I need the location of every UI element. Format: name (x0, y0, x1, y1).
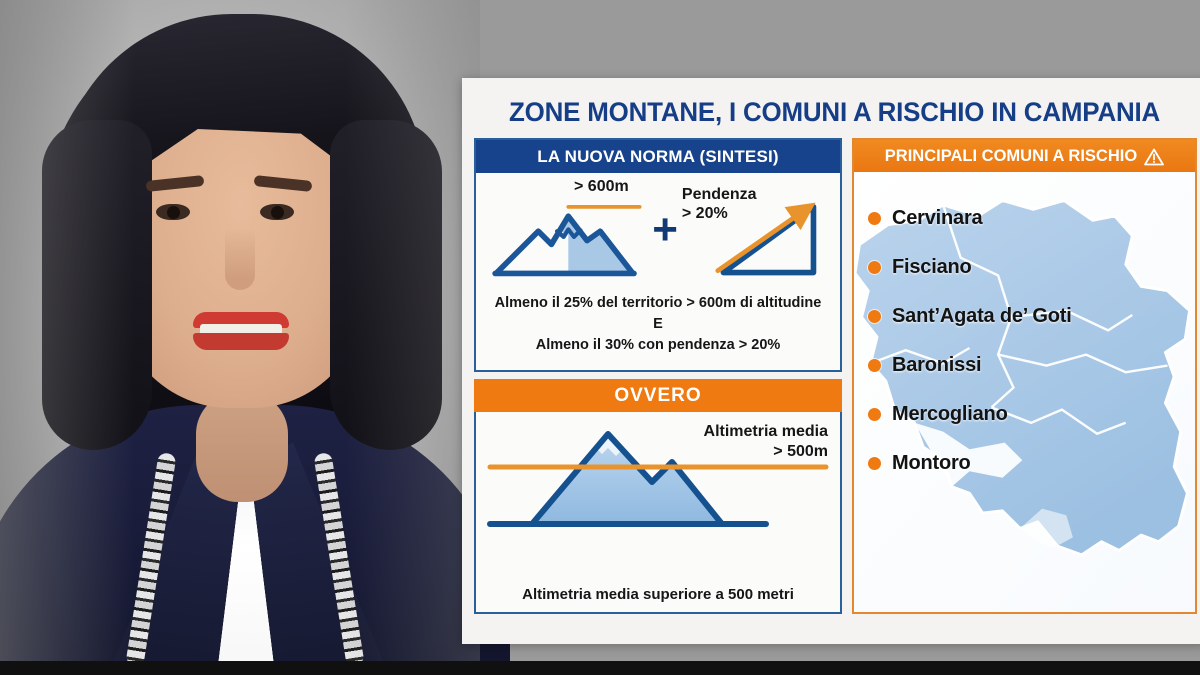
norma-panel-header: LA NUOVA NORMA (SINTESI) (476, 140, 840, 173)
comuni-panel-header-label: PRINCIPALI COMUNI A RISCHIO (885, 147, 1137, 166)
slope-label-line1: Pendenza (682, 185, 757, 204)
comune-name: Montoro (892, 452, 971, 475)
ovvero-section: OVVERO (474, 379, 842, 614)
norma-icon-row: > 600m + (482, 179, 834, 291)
plus-symbol: + (650, 208, 680, 262)
bullet-dot-icon (868, 359, 881, 372)
campania-map: Cervinara Fisciano Sant’Agata de’ Goti (854, 172, 1195, 612)
rule-line-2: Almeno il 30% con pendenza > 20% (486, 335, 830, 356)
rule-line-1: Almeno il 25% del territorio > 600m di a… (486, 293, 830, 314)
bullet-dot-icon (868, 310, 881, 323)
slope-label-line2: > 20% (682, 204, 757, 223)
norma-content: > 600m + (476, 173, 840, 370)
altimetry-label-line2: > 500m (704, 442, 828, 462)
ovvero-content: Altimetria media > 500m Altimetria media… (474, 412, 842, 614)
norma-panel: LA NUOVA NORMA (SINTESI) (474, 138, 842, 372)
bullet-dot-icon (868, 212, 881, 225)
bottom-letterbox-bar (0, 661, 1200, 675)
slope-label: Pendenza > 20% (682, 185, 757, 223)
right-column: PRINCIPALI COMUNI A RISCHIO (852, 138, 1197, 614)
average-altitude-label: Altimetria media > 500m (704, 422, 828, 462)
warning-triangle-icon (1144, 148, 1164, 166)
list-item[interactable]: Cervinara (868, 194, 1189, 243)
infographic-card: ZONE MONTANE, I COMUNI A RISCHIO IN CAMP… (462, 78, 1200, 644)
comuni-list: Cervinara Fisciano Sant’Agata de’ Goti (868, 194, 1189, 488)
bullet-dot-icon (868, 261, 881, 274)
mountain-altitude-label: > 600m (574, 178, 629, 196)
ovvero-caption: Altimetria media superiore a 500 metri (476, 586, 840, 603)
card-body: LA NUOVA NORMA (SINTESI) (462, 134, 1200, 626)
list-item[interactable]: Sant’Agata de’ Goti (868, 292, 1189, 341)
page-title: ZONE MONTANE, I COMUNI A RISCHIO IN CAMP… (477, 78, 1192, 134)
left-column: LA NUOVA NORMA (SINTESI) (474, 138, 842, 614)
list-item[interactable]: Fisciano (868, 243, 1189, 292)
comune-name: Mercogliano (892, 403, 1008, 426)
rule-conjunction: E (486, 314, 830, 335)
comuni-panel-header: PRINCIPALI COMUNI A RISCHIO (854, 140, 1195, 172)
slope-figure: Pendenza > 20% (684, 179, 834, 291)
mountain-600m-figure: > 600m (482, 179, 646, 291)
list-item[interactable]: Mercogliano (868, 390, 1189, 439)
comune-name: Cervinara (892, 207, 982, 230)
screenshot-stage: ZONE MONTANE, I COMUNI A RISCHIO IN CAMP… (0, 0, 1200, 675)
norma-rules: Almeno il 25% del territorio > 600m di a… (482, 291, 834, 362)
comune-name: Baronissi (892, 354, 981, 377)
list-item[interactable]: Montoro (868, 439, 1189, 488)
bullet-dot-icon (868, 457, 881, 470)
bullet-dot-icon (868, 408, 881, 421)
comune-name: Sant’Agata de’ Goti (892, 305, 1072, 328)
photo-vignette (0, 0, 480, 675)
ovvero-header: OVVERO (474, 379, 842, 412)
comune-name: Fisciano (892, 256, 972, 279)
altimetry-label-line1: Altimetria media (704, 422, 828, 442)
list-item[interactable]: Baronissi (868, 341, 1189, 390)
